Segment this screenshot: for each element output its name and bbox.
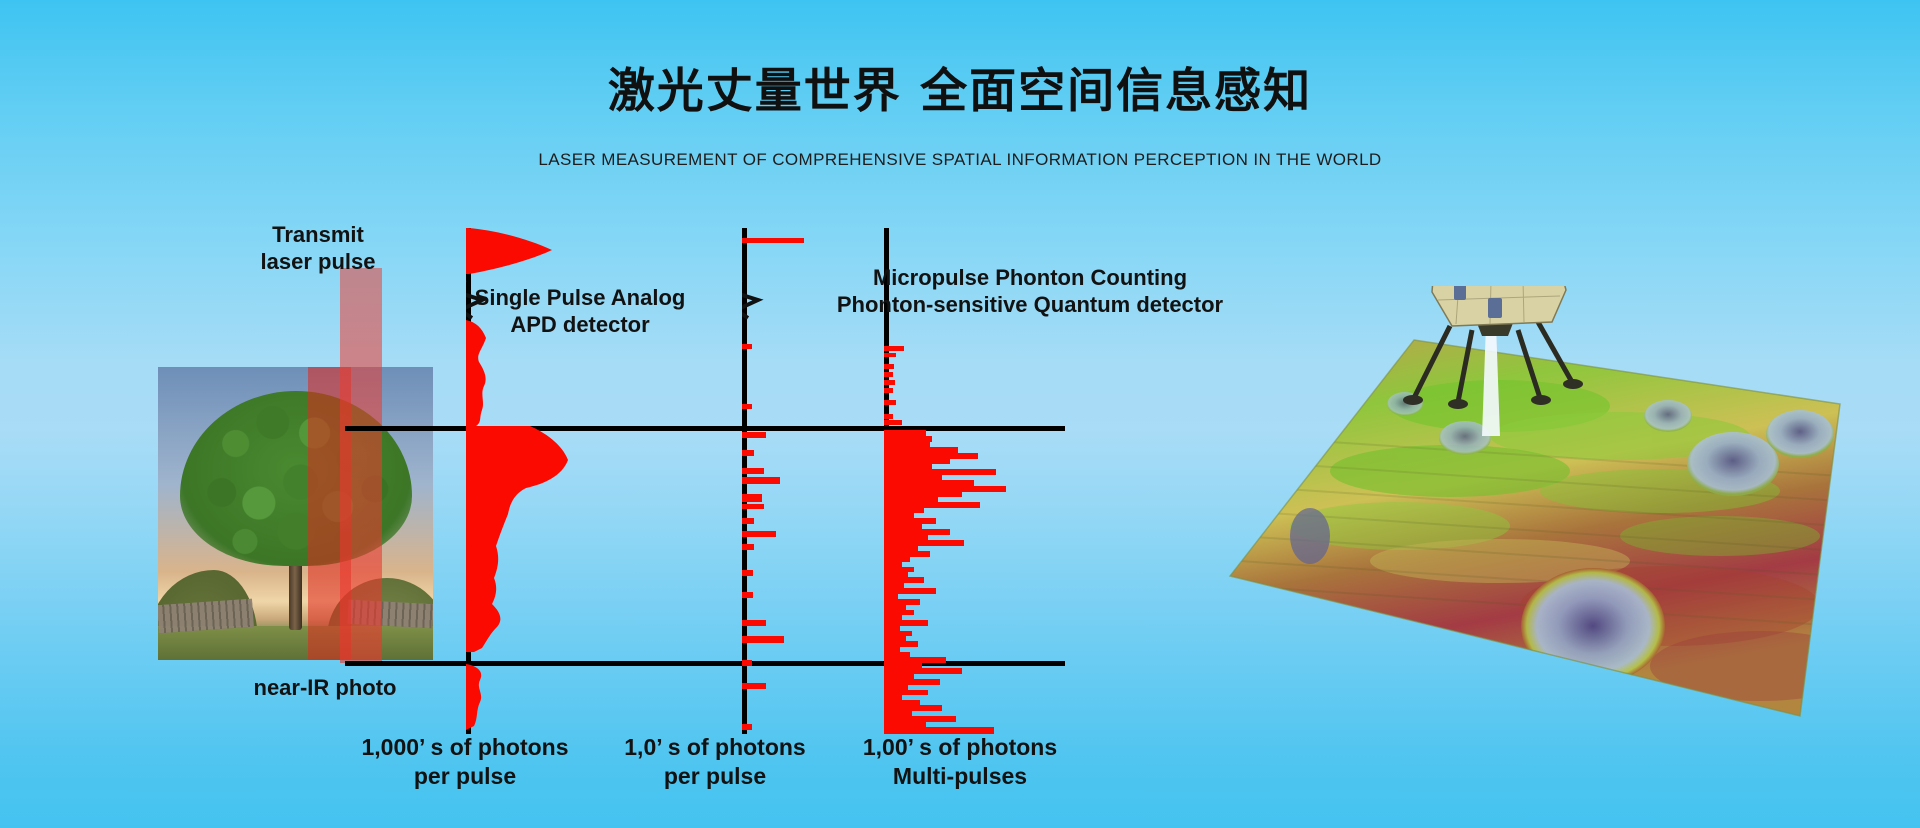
page-subtitle: LASER MEASUREMENT OF COMPREHENSIVE SPATI… <box>0 150 1920 170</box>
transmit-laser-beam <box>340 268 382 663</box>
caption-micropulse-line-2: Multi-pulses <box>835 762 1085 791</box>
near-ir-photo <box>158 367 433 660</box>
poster-stage: 激光丈量世界 全面空间信息感知 LASER MEASUREMENT OF COM… <box>0 0 1920 828</box>
apd-label-line-2: APD detector <box>430 312 730 339</box>
transmit-label-line-1: Transmit <box>228 222 408 249</box>
caption-analog-line-1: 1,000’ s of photons <box>330 733 600 762</box>
lander-descent-plume <box>1482 324 1500 436</box>
apd-detector-label: Single Pulse Analog APD detector <box>430 285 730 339</box>
terrain-surface <box>1230 340 1870 716</box>
sparse-axis-break-icon <box>742 280 758 318</box>
transmit-laser-pulse-label: Transmit laser pulse <box>228 222 408 276</box>
caption-micropulse: 1,00’ s of photons Multi-pulses <box>835 733 1085 791</box>
analog-transmit-pulse <box>466 228 552 274</box>
analog-subsurface-tail <box>466 664 481 730</box>
lunar-terrain-model: ★ ★ ★ <box>1200 286 1880 746</box>
analog-return-waveform <box>466 320 568 652</box>
near-ir-photo-caption: near-IR photo <box>205 675 445 702</box>
caption-sparse-line-1: 1,0’ s of photons <box>600 733 830 762</box>
transmit-label-line-2: laser pulse <box>228 249 408 276</box>
sparse-photon-bars <box>742 238 804 730</box>
micropulse-photon-bars <box>884 346 1034 734</box>
micropulse-label-line-2: Phonton-sensitive Quantum detector <box>820 292 1240 319</box>
page-title: 激光丈量世界 全面空间信息感知 <box>0 52 1920 121</box>
caption-analog: 1,000’ s of photons per pulse <box>330 733 600 791</box>
apd-label-line-1: Single Pulse Analog <box>430 285 730 312</box>
caption-micropulse-line-1: 1,00’ s of photons <box>835 733 1085 762</box>
caption-sparse-line-2: per pulse <box>600 762 830 791</box>
micropulse-label-line-1: Micropulse Phonton Counting <box>820 265 1240 292</box>
caption-sparse: 1,0’ s of photons per pulse <box>600 733 830 791</box>
photo-ground <box>158 626 433 660</box>
micropulse-detector-label: Micropulse Phonton Counting Phonton-sens… <box>820 265 1240 319</box>
caption-analog-line-2: per pulse <box>330 762 600 791</box>
